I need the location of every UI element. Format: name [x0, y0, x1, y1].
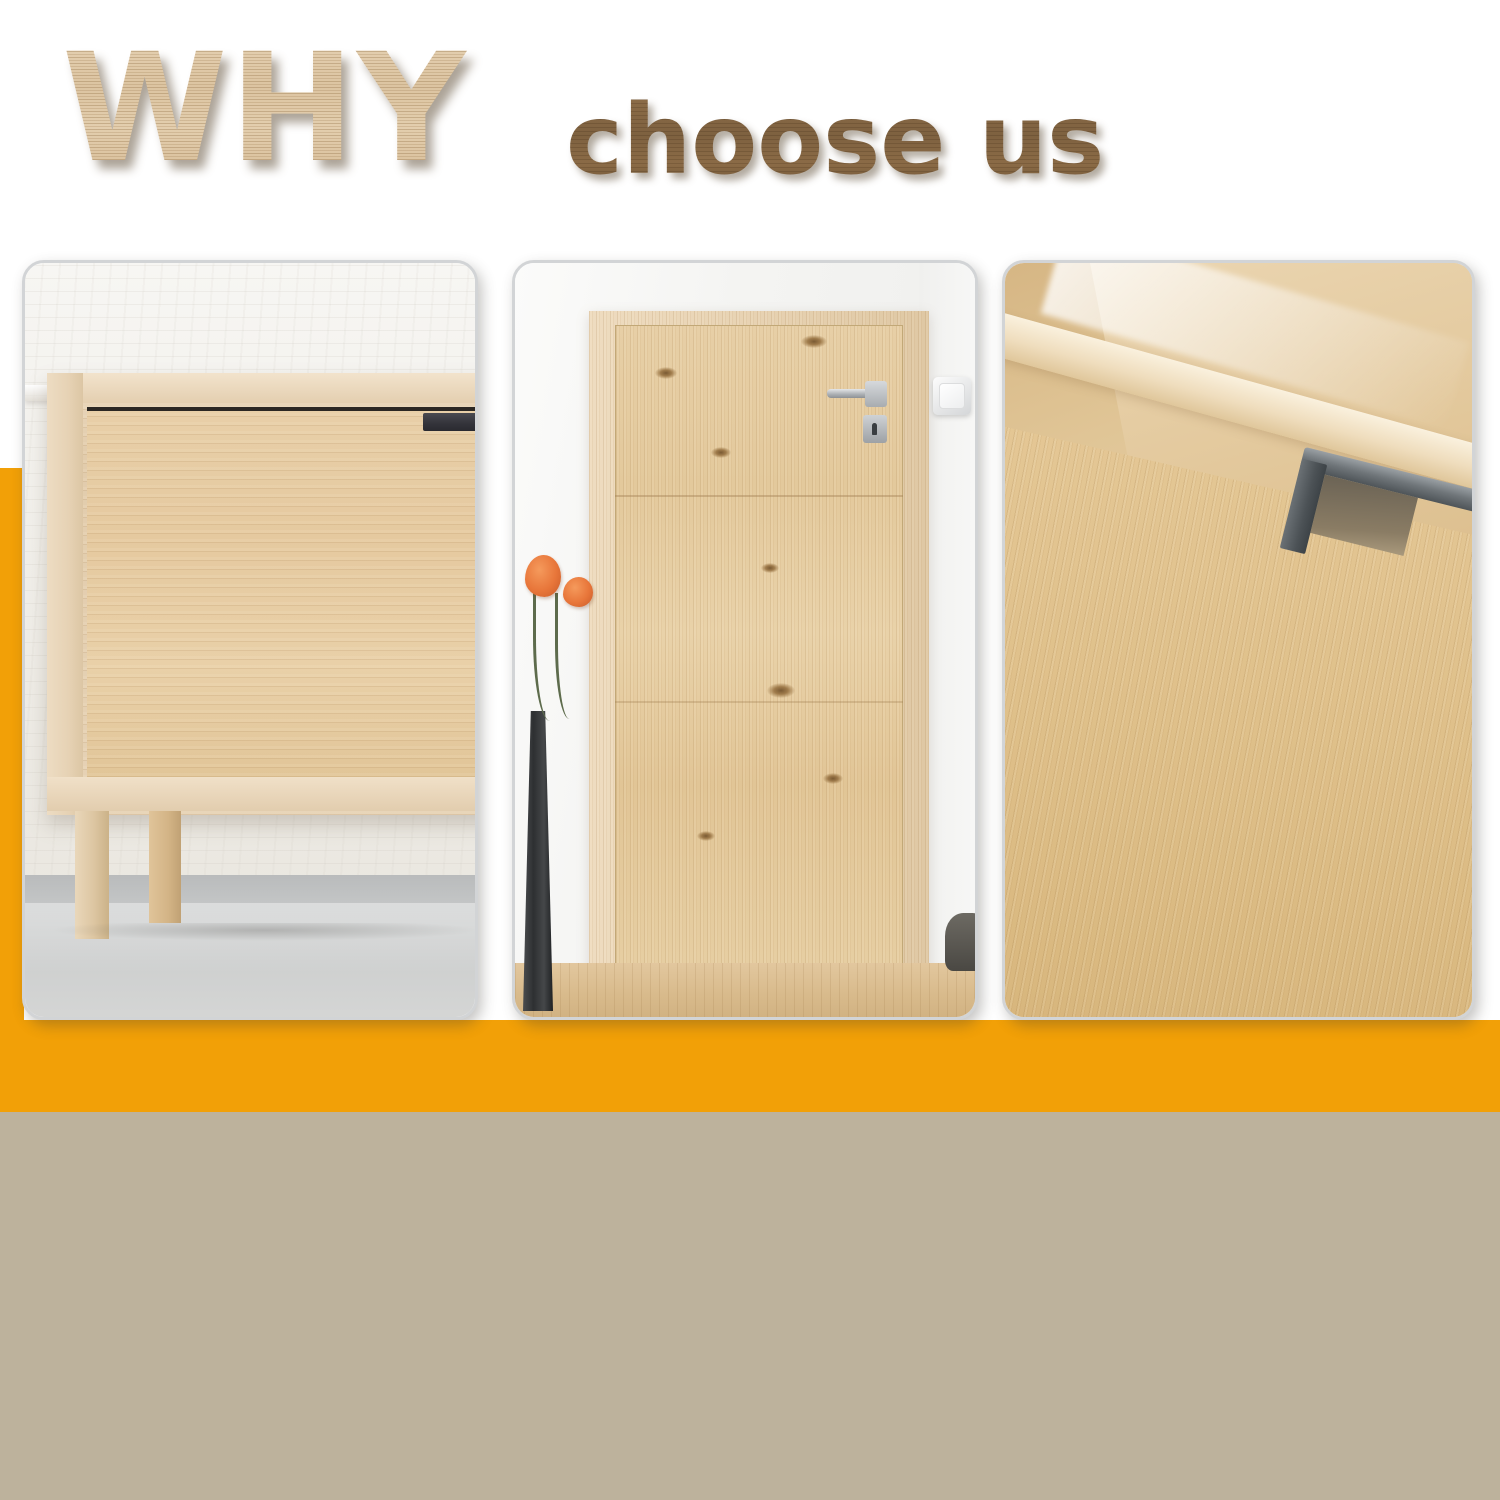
photo-card-maple-drawer-corner	[1002, 260, 1475, 1020]
door-leaf-grain	[616, 326, 902, 964]
cabinet-flap-door	[87, 409, 475, 777]
product-photo-maple-drawer-corner	[1005, 263, 1472, 1017]
orange-accent-left-column	[0, 468, 24, 1112]
page-title-primary: WHY	[62, 34, 468, 184]
cabinet-floor-shadow	[49, 923, 475, 941]
wood-knot	[761, 563, 779, 573]
wood-knot	[823, 773, 843, 784]
oak-door-leaf	[615, 325, 903, 965]
cabinet-left-frame	[47, 373, 83, 815]
door-handle-rose	[865, 381, 887, 407]
door-seam-lower	[615, 701, 903, 703]
wood-knot	[711, 447, 731, 458]
door-keyhole	[872, 423, 877, 435]
orange-accent-band	[0, 1020, 1500, 1112]
wood-floor-grain	[515, 963, 975, 1017]
wood-knot	[767, 683, 795, 698]
header: WHY choose us	[0, 0, 1500, 240]
photo-card-oak-sideboard-cabinet	[22, 260, 478, 1020]
poppy-flower	[525, 555, 561, 597]
cabinet-top-panel	[47, 373, 475, 403]
photo-card-oak-interior-door	[512, 260, 978, 1020]
door-top-shadow-line	[87, 407, 475, 411]
cabinet-plinth-rail	[47, 777, 475, 811]
cabinet-leg-inner	[149, 811, 181, 923]
light-switch-rocker	[939, 383, 965, 409]
product-photo-oak-sideboard-cabinet	[25, 263, 475, 1017]
page-title-secondary: choose us	[566, 92, 1104, 188]
cabinet-bar-handle	[423, 413, 475, 431]
door-seam-upper	[615, 495, 903, 497]
feature-list	[0, 1112, 1500, 1500]
door-grain	[87, 409, 475, 777]
wood-knot	[697, 831, 715, 841]
wood-knot	[801, 335, 827, 348]
cabinet-leg-left	[75, 811, 109, 939]
poppy-flower	[563, 577, 593, 607]
product-photo-oak-interior-door	[515, 263, 975, 1017]
floor-object	[945, 913, 975, 971]
wood-knot	[655, 367, 677, 379]
